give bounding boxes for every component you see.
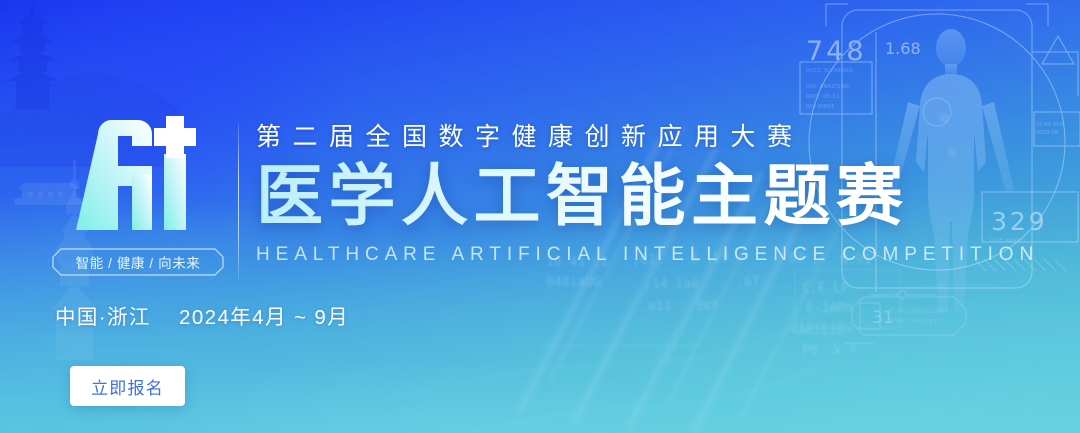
event-location: 中国·浙江 (55, 306, 151, 329)
competition-subtitle-cn: 第二届全国数字健康创新应用大赛 (256, 120, 996, 154)
event-date-range: 2024年4月 ~ 9月 (179, 306, 349, 329)
event-meta: 中国·浙江 2024年4月 ~ 9月 (55, 300, 349, 330)
register-now-button[interactable]: 立即报名 (70, 366, 185, 406)
headline-block: 第二届全国数字健康创新应用大赛 医学人工智能主题赛 HEALTHCARE ART… (256, 120, 996, 267)
logo-tagline-text: 智能 / 健康 / 向未来 (76, 252, 201, 272)
logo-block: 智能 / 健康 / 向未来 (52, 112, 232, 276)
banner-content: 智能 / 健康 / 向未来 第二届全国数字健康创新应用大赛 医学人工智能主题赛 … (0, 0, 1080, 433)
competition-subtitle-en: HEALTHCARE ARTIFICIAL INTELLIGENCE COMPE… (256, 243, 996, 267)
ai-medical-cross-logo-icon (66, 112, 206, 240)
logo-title-divider (238, 124, 239, 280)
logo-tagline: 智能 / 健康 / 向未来 (52, 248, 224, 276)
competition-title-cn: 医学人工智能主题赛 (256, 158, 996, 236)
competition-banner: 10 41 .2 ,61 3 ,VV 89 , N.91 048iaUG .14… (0, 0, 1080, 433)
